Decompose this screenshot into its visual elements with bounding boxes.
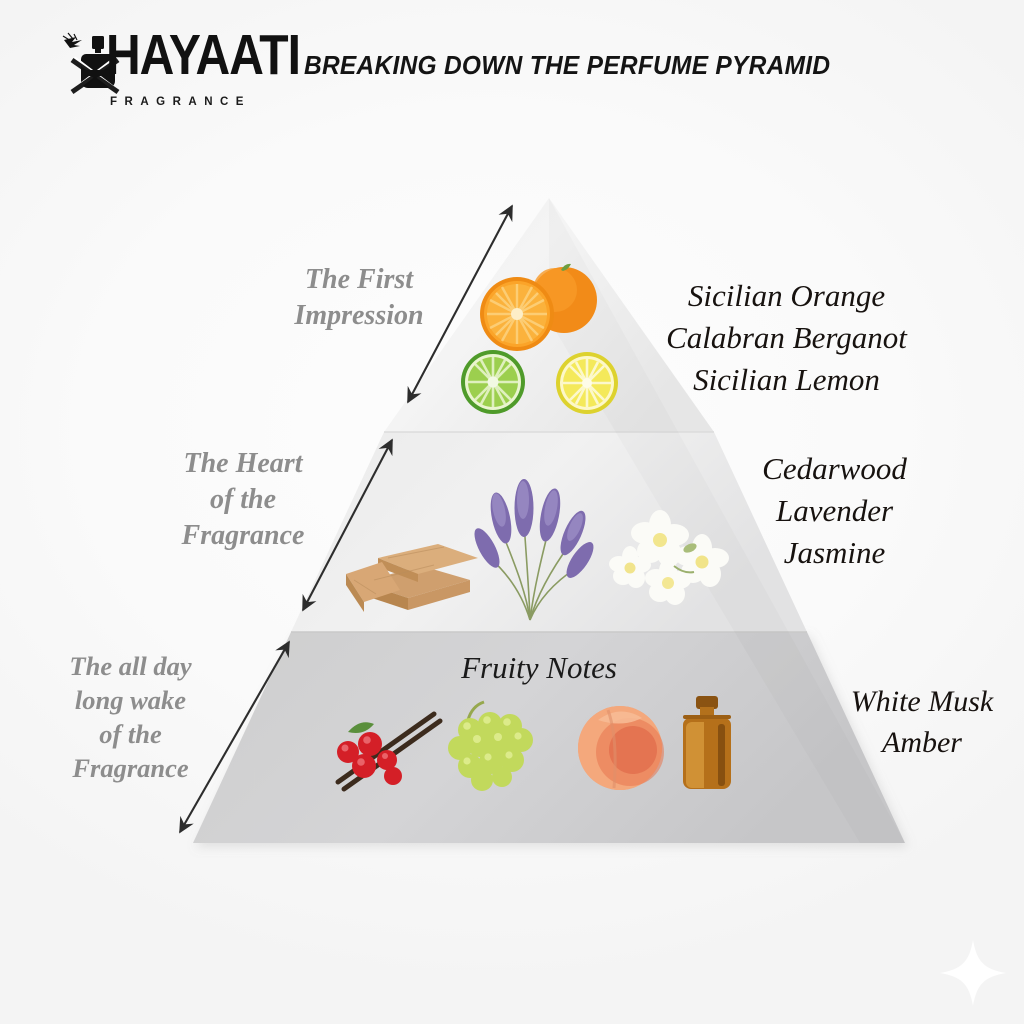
note-item: Jasmine	[712, 532, 957, 574]
tier-label-base-notes: The all day long wake of the Fragrance	[38, 650, 223, 786]
tier-label-line: The Heart	[158, 446, 328, 482]
tier-label-line: Fragrance	[38, 752, 223, 786]
tier-label-line: The First	[268, 262, 450, 298]
tier-label-line: of the	[158, 482, 328, 518]
perfume-pyramid-diagram: The First Impression The Heart of the Fr…	[0, 0, 1024, 1024]
notes-list-top: Sicilian Orange Calabran Berganot Sicili…	[614, 275, 959, 401]
note-item: Lavender	[712, 490, 957, 532]
notes-list-base: White Musk Amber	[824, 682, 1020, 764]
tier-label-heart-notes: The Heart of the Fragrance	[158, 446, 328, 553]
note-item: Calabran Berganot	[614, 317, 959, 359]
note-item: Sicilian Orange	[614, 275, 959, 317]
tier-label-line: Fragrance	[158, 518, 328, 554]
note-item: Cedarwood	[712, 448, 957, 490]
tier-label-top-notes: The First Impression	[268, 262, 450, 334]
tier-label-line: long wake	[38, 684, 223, 718]
notes-list-heart: Cedarwood Lavender Jasmine	[712, 448, 957, 574]
tier-label-line: Impression	[268, 298, 450, 334]
note-item: Amber	[824, 723, 1020, 764]
note-item: Sicilian Lemon	[614, 359, 959, 401]
note-item: White Musk	[824, 682, 1020, 723]
tier-label-line: of the	[38, 718, 223, 752]
tier-label-line: The all day	[38, 650, 223, 684]
fruity-notes-label: Fruity Notes	[424, 650, 654, 686]
sparkle-star-icon	[938, 938, 1008, 1008]
